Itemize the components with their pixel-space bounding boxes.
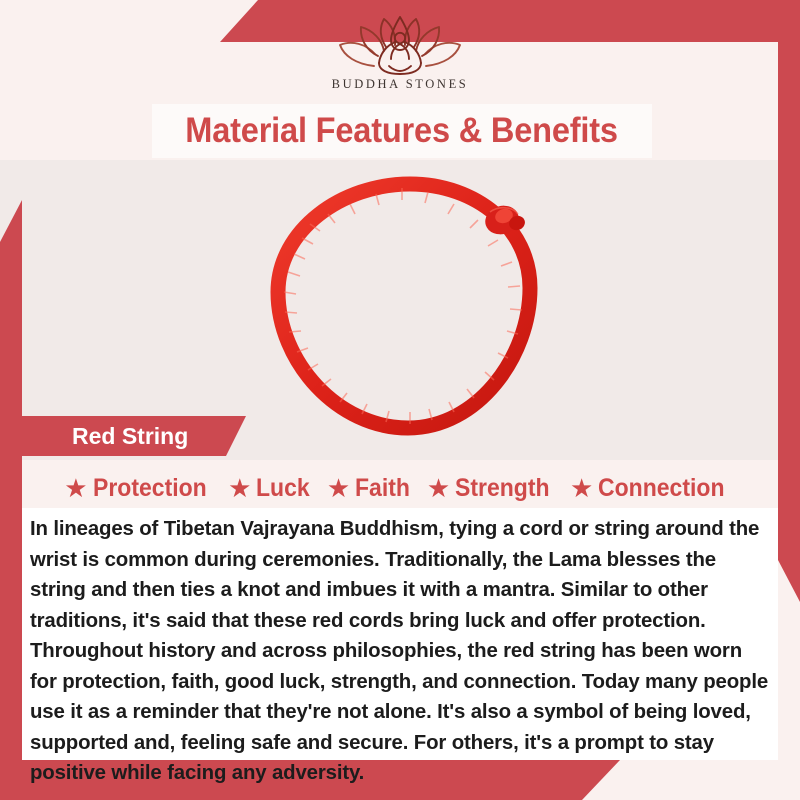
product-image-red-string-bracelet bbox=[250, 176, 570, 442]
benefit-label: Connection bbox=[598, 474, 725, 503]
decorative-strip-right bbox=[778, 42, 800, 602]
description-text: In lineages of Tibetan Vajrayana Buddhis… bbox=[22, 508, 778, 789]
brand-logo: BUDDHA STONES bbox=[0, 14, 800, 100]
benefits-row: ★ Protection ★ Luck ★ Faith ★ Strength ★… bbox=[22, 466, 778, 510]
star-icon: ★ bbox=[64, 475, 87, 501]
benefit-item: ★ Faith bbox=[327, 474, 415, 503]
benefit-item: ★ Luck bbox=[228, 474, 315, 503]
benefit-item: ★ Connection bbox=[570, 474, 736, 503]
star-icon: ★ bbox=[570, 475, 593, 501]
infographic-page: BUDDHA STONES Material Features & Benefi… bbox=[0, 0, 800, 800]
decorative-strip-left bbox=[0, 200, 22, 800]
product-name-label: Red String bbox=[72, 423, 188, 450]
benefit-item: ★ Strength bbox=[427, 474, 558, 503]
benefit-item: ★ Protection bbox=[64, 474, 216, 503]
page-title: Material Features & Benefits bbox=[186, 111, 619, 151]
benefit-label: Luck bbox=[256, 474, 310, 503]
lotus-meditation-icon bbox=[334, 14, 466, 76]
benefit-label: Faith bbox=[355, 474, 410, 503]
product-name-banner: Red String bbox=[22, 416, 246, 456]
page-title-band: Material Features & Benefits bbox=[152, 104, 652, 158]
brand-name: BUDDHA STONES bbox=[332, 77, 469, 92]
description-panel: In lineages of Tibetan Vajrayana Buddhis… bbox=[22, 508, 778, 760]
star-icon: ★ bbox=[228, 475, 251, 501]
benefit-label: Strength bbox=[455, 474, 550, 503]
benefit-label: Protection bbox=[93, 474, 207, 503]
star-icon: ★ bbox=[327, 475, 350, 501]
star-icon: ★ bbox=[427, 475, 450, 501]
